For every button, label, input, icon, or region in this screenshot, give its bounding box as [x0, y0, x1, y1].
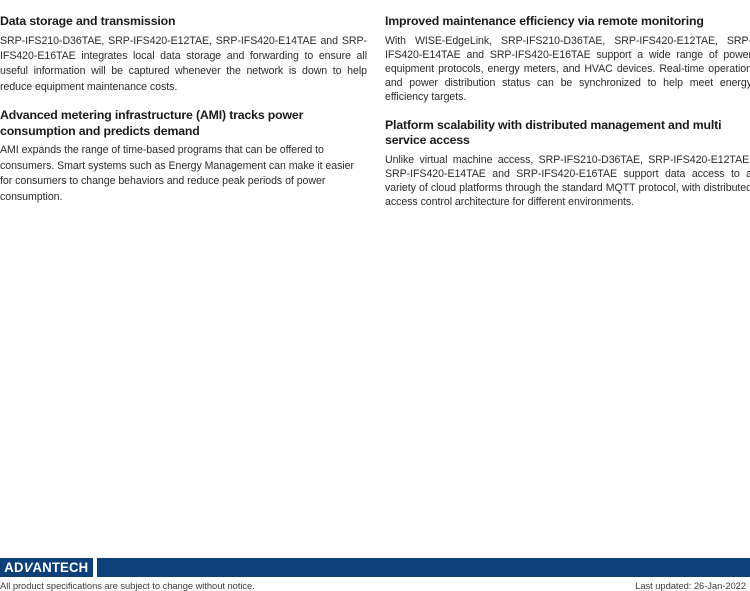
advantech-logo-text: ADVANTECH	[5, 560, 89, 575]
left-column: Data storage and transmission SRP-IFS210…	[0, 14, 367, 222]
advantech-logo: ADVANTECH	[0, 558, 93, 577]
right-column: Improved maintenance efficiency via remo…	[383, 14, 750, 222]
footer-bar-fill	[97, 558, 750, 577]
feature-body: AMI expands the range of time-based prog…	[0, 143, 367, 205]
logo-text-part2: ANTECH	[33, 560, 89, 575]
feature-body: With WISE-EdgeLink, SRP-IFS210-D36TAE, S…	[385, 34, 750, 105]
feature-body: Unlike virtual machine access, SRP-IFS21…	[385, 153, 750, 210]
footer-brand-bar: ADVANTECH	[0, 558, 750, 577]
feature-block: Improved maintenance efficiency via remo…	[385, 14, 750, 105]
footer-disclaimer: All product specifications are subject t…	[0, 580, 255, 591]
page-title: Features	[0, 0, 86, 5]
footer-last-updated: Last updated: 26-Jan-2022	[635, 580, 750, 591]
feature-block: Data storage and transmission SRP-IFS210…	[0, 14, 367, 95]
feature-block: Platform scalability with distributed ma…	[385, 118, 750, 210]
feature-heading: Platform scalability with distributed ma…	[385, 118, 750, 149]
content-columns: Data storage and transmission SRP-IFS210…	[0, 14, 750, 222]
feature-heading: Advanced metering infrastructure (AMI) t…	[0, 108, 367, 139]
feature-heading: Improved maintenance efficiency via remo…	[385, 14, 750, 30]
page-footer: ADVANTECH All product specifications are…	[0, 558, 750, 591]
footer-note: All product specifications are subject t…	[0, 577, 750, 591]
logo-text-part1: AD	[5, 560, 24, 575]
feature-heading: Data storage and transmission	[0, 14, 367, 30]
feature-body: SRP-IFS210-D36TAE, SRP-IFS420-E12TAE, SR…	[0, 34, 367, 96]
feature-block: Advanced metering infrastructure (AMI) t…	[0, 108, 367, 205]
